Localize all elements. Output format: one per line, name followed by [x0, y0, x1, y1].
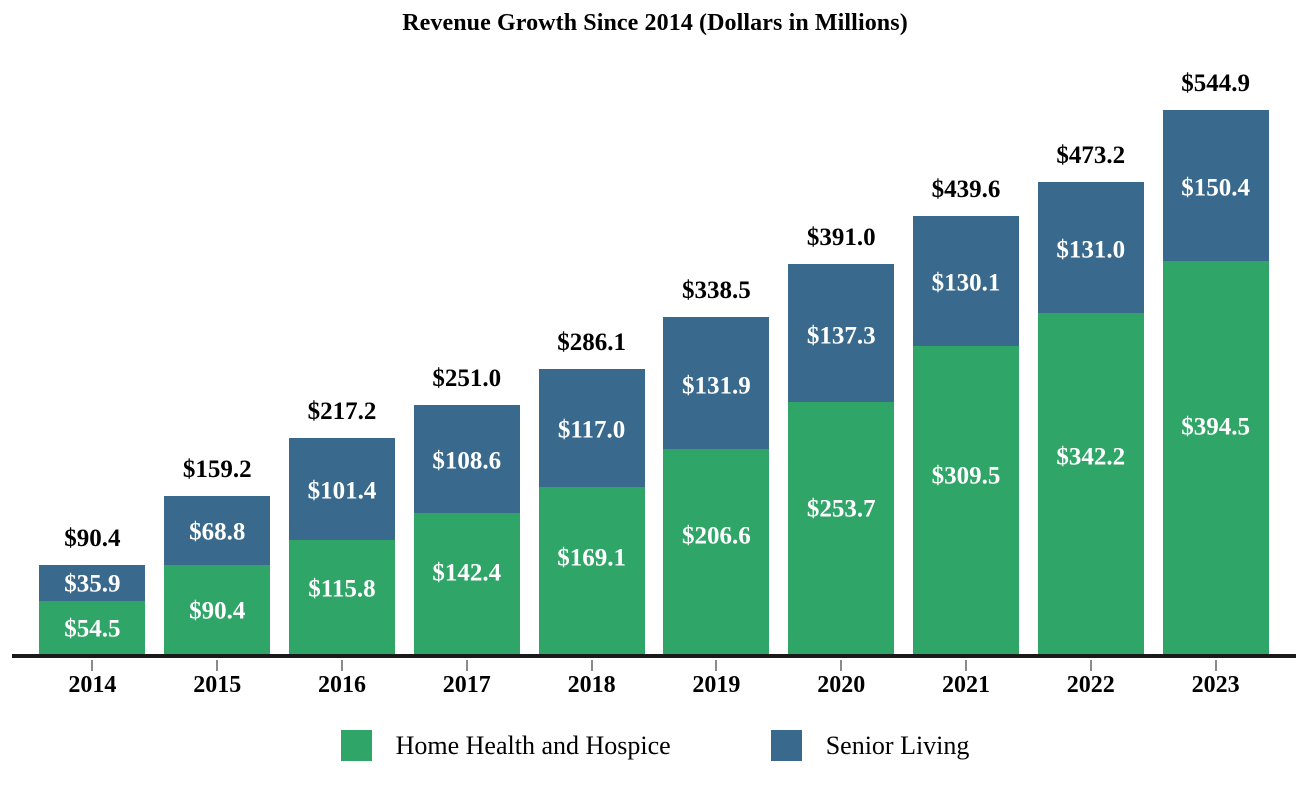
x-axis-label-2020: 2020: [779, 672, 904, 699]
bar-segment-senior-living[interactable]: $137.3: [788, 264, 894, 402]
bar-total-label: $286.1: [539, 330, 645, 355]
segment-value-label: $309.5: [913, 464, 1019, 489]
bar-stack: $159.2$68.8$90.4: [164, 496, 270, 656]
x-axis-tick: [466, 660, 468, 671]
bar-total-label: $90.4: [39, 526, 145, 551]
segment-value-label: $54.5: [39, 616, 145, 641]
segment-value-label: $90.4: [164, 598, 270, 623]
bar-total-label: $159.2: [164, 457, 270, 482]
x-axis-label-2022: 2022: [1028, 672, 1153, 699]
segment-value-label: $68.8: [164, 520, 270, 545]
segment-value-label: $131.0: [1038, 238, 1144, 263]
bar-stack: $251.0$108.6$142.4: [414, 405, 520, 656]
segment-value-label: $137.3: [788, 323, 894, 348]
bar-total-label: $439.6: [913, 177, 1019, 202]
legend-label: Senior Living: [826, 731, 970, 761]
bar-stack: $544.9$150.4$394.5: [1163, 110, 1269, 656]
legend-item-home-health-and-hospice[interactable]: Home Health and Hospice: [341, 730, 671, 761]
bar-group-2015[interactable]: $159.2$68.8$90.4: [155, 50, 280, 656]
bar-stack: $439.6$130.1$309.5: [913, 216, 1019, 656]
bar-stack: $286.1$117.0$169.1: [539, 369, 645, 656]
x-axis-tick: [965, 660, 967, 671]
bar-segment-senior-living[interactable]: $35.9: [39, 565, 145, 601]
segment-value-label: $342.2: [1038, 445, 1144, 470]
x-axis-label-2023: 2023: [1153, 672, 1278, 699]
bar-segment-senior-living[interactable]: $131.0: [1038, 182, 1144, 313]
x-axis-tick: [341, 660, 343, 671]
segment-value-label: $130.1: [913, 271, 1019, 296]
x-axis-label-2017: 2017: [404, 672, 529, 699]
plot-area: $90.4$35.9$54.5$159.2$68.8$90.4$217.2$10…: [30, 50, 1278, 656]
bar-group-2022[interactable]: $473.2$131.0$342.2: [1028, 50, 1153, 656]
bar-stack: $473.2$131.0$342.2: [1038, 182, 1144, 656]
bar-segment-home-health-and-hospice[interactable]: $309.5: [913, 346, 1019, 656]
bar-total-label: $544.9: [1163, 71, 1269, 96]
bar-stack: $90.4$35.9$54.5: [39, 565, 145, 656]
legend-swatch-icon: [341, 730, 372, 761]
x-axis-tick: [1215, 660, 1217, 671]
bar-segment-home-health-and-hospice[interactable]: $253.7: [788, 402, 894, 656]
x-axis-tick: [216, 660, 218, 671]
x-axis-label-2019: 2019: [654, 672, 779, 699]
bar-total-label: $217.2: [289, 399, 395, 424]
bar-group-2020[interactable]: $391.0$137.3$253.7: [779, 50, 904, 656]
x-axis-label-2014: 2014: [30, 672, 155, 699]
legend-label: Home Health and Hospice: [396, 731, 671, 761]
legend-item-senior-living[interactable]: Senior Living: [771, 730, 970, 761]
segment-value-label: $115.8: [289, 576, 395, 601]
bar-segment-senior-living[interactable]: $131.9: [663, 317, 769, 449]
bar-group-2021[interactable]: $439.6$130.1$309.5: [904, 50, 1029, 656]
bar-segment-home-health-and-hospice[interactable]: $90.4: [164, 565, 270, 656]
segment-value-label: $108.6: [414, 449, 520, 474]
bar-segment-senior-living[interactable]: $68.8: [164, 496, 270, 565]
bar-segment-home-health-and-hospice[interactable]: $169.1: [539, 487, 645, 656]
segment-value-label: $101.4: [289, 479, 395, 504]
legend-swatch-icon: [771, 730, 802, 761]
chart-legend: Home Health and HospiceSenior Living: [0, 730, 1310, 761]
segment-value-label: $35.9: [39, 572, 145, 597]
bar-segment-home-health-and-hospice[interactable]: $142.4: [414, 513, 520, 656]
segment-value-label: $253.7: [788, 496, 894, 521]
bar-group-2018[interactable]: $286.1$117.0$169.1: [529, 50, 654, 656]
revenue-growth-stacked-bar-chart: Revenue Growth Since 2014 (Dollars in Mi…: [0, 0, 1310, 800]
chart-title: Revenue Growth Since 2014 (Dollars in Mi…: [0, 10, 1310, 37]
bar-total-label: $338.5: [663, 278, 769, 303]
x-axis-line: [12, 654, 1296, 658]
bar-segment-home-health-and-hospice[interactable]: $54.5: [39, 601, 145, 656]
x-axis-label-2015: 2015: [155, 672, 280, 699]
bar-segment-senior-living[interactable]: $117.0: [539, 369, 645, 486]
bar-total-label: $473.2: [1038, 143, 1144, 168]
bar-segment-senior-living[interactable]: $101.4: [289, 438, 395, 540]
bar-stack: $338.5$131.9$206.6: [663, 317, 769, 656]
segment-value-label: $206.6: [663, 523, 769, 548]
bar-stack: $217.2$101.4$115.8: [289, 438, 395, 656]
bar-segment-home-health-and-hospice[interactable]: $342.2: [1038, 313, 1144, 656]
segment-value-label: $150.4: [1163, 176, 1269, 201]
x-axis-label-2021: 2021: [904, 672, 1029, 699]
segment-value-label: $169.1: [539, 545, 645, 570]
segment-value-label: $117.0: [539, 418, 645, 443]
segment-value-label: $142.4: [414, 561, 520, 586]
x-axis-tick: [91, 660, 93, 671]
x-axis-tick: [1090, 660, 1092, 671]
bar-segment-senior-living[interactable]: $130.1: [913, 216, 1019, 346]
segment-value-label: $131.9: [663, 373, 769, 398]
bar-segment-home-health-and-hospice[interactable]: $206.6: [663, 449, 769, 656]
x-axis-tick: [591, 660, 593, 671]
bar-segment-senior-living[interactable]: $108.6: [414, 405, 520, 514]
bar-group-2016[interactable]: $217.2$101.4$115.8: [280, 50, 405, 656]
bar-group-2017[interactable]: $251.0$108.6$142.4: [404, 50, 529, 656]
bar-segment-home-health-and-hospice[interactable]: $115.8: [289, 540, 395, 656]
bar-group-2014[interactable]: $90.4$35.9$54.5: [30, 50, 155, 656]
x-axis-label-2016: 2016: [280, 672, 405, 699]
bar-group-2023[interactable]: $544.9$150.4$394.5: [1153, 50, 1278, 656]
x-axis-tick: [840, 660, 842, 671]
x-axis-label-2018: 2018: [529, 672, 654, 699]
bar-total-label: $251.0: [414, 366, 520, 391]
x-axis-tick: [715, 660, 717, 671]
bar-segment-home-health-and-hospice[interactable]: $394.5: [1163, 261, 1269, 656]
segment-value-label: $394.5: [1163, 414, 1269, 439]
bar-segment-senior-living[interactable]: $150.4: [1163, 110, 1269, 261]
bar-stack: $391.0$137.3$253.7: [788, 264, 894, 656]
bar-total-label: $391.0: [788, 225, 894, 250]
bar-group-2019[interactable]: $338.5$131.9$206.6: [654, 50, 779, 656]
